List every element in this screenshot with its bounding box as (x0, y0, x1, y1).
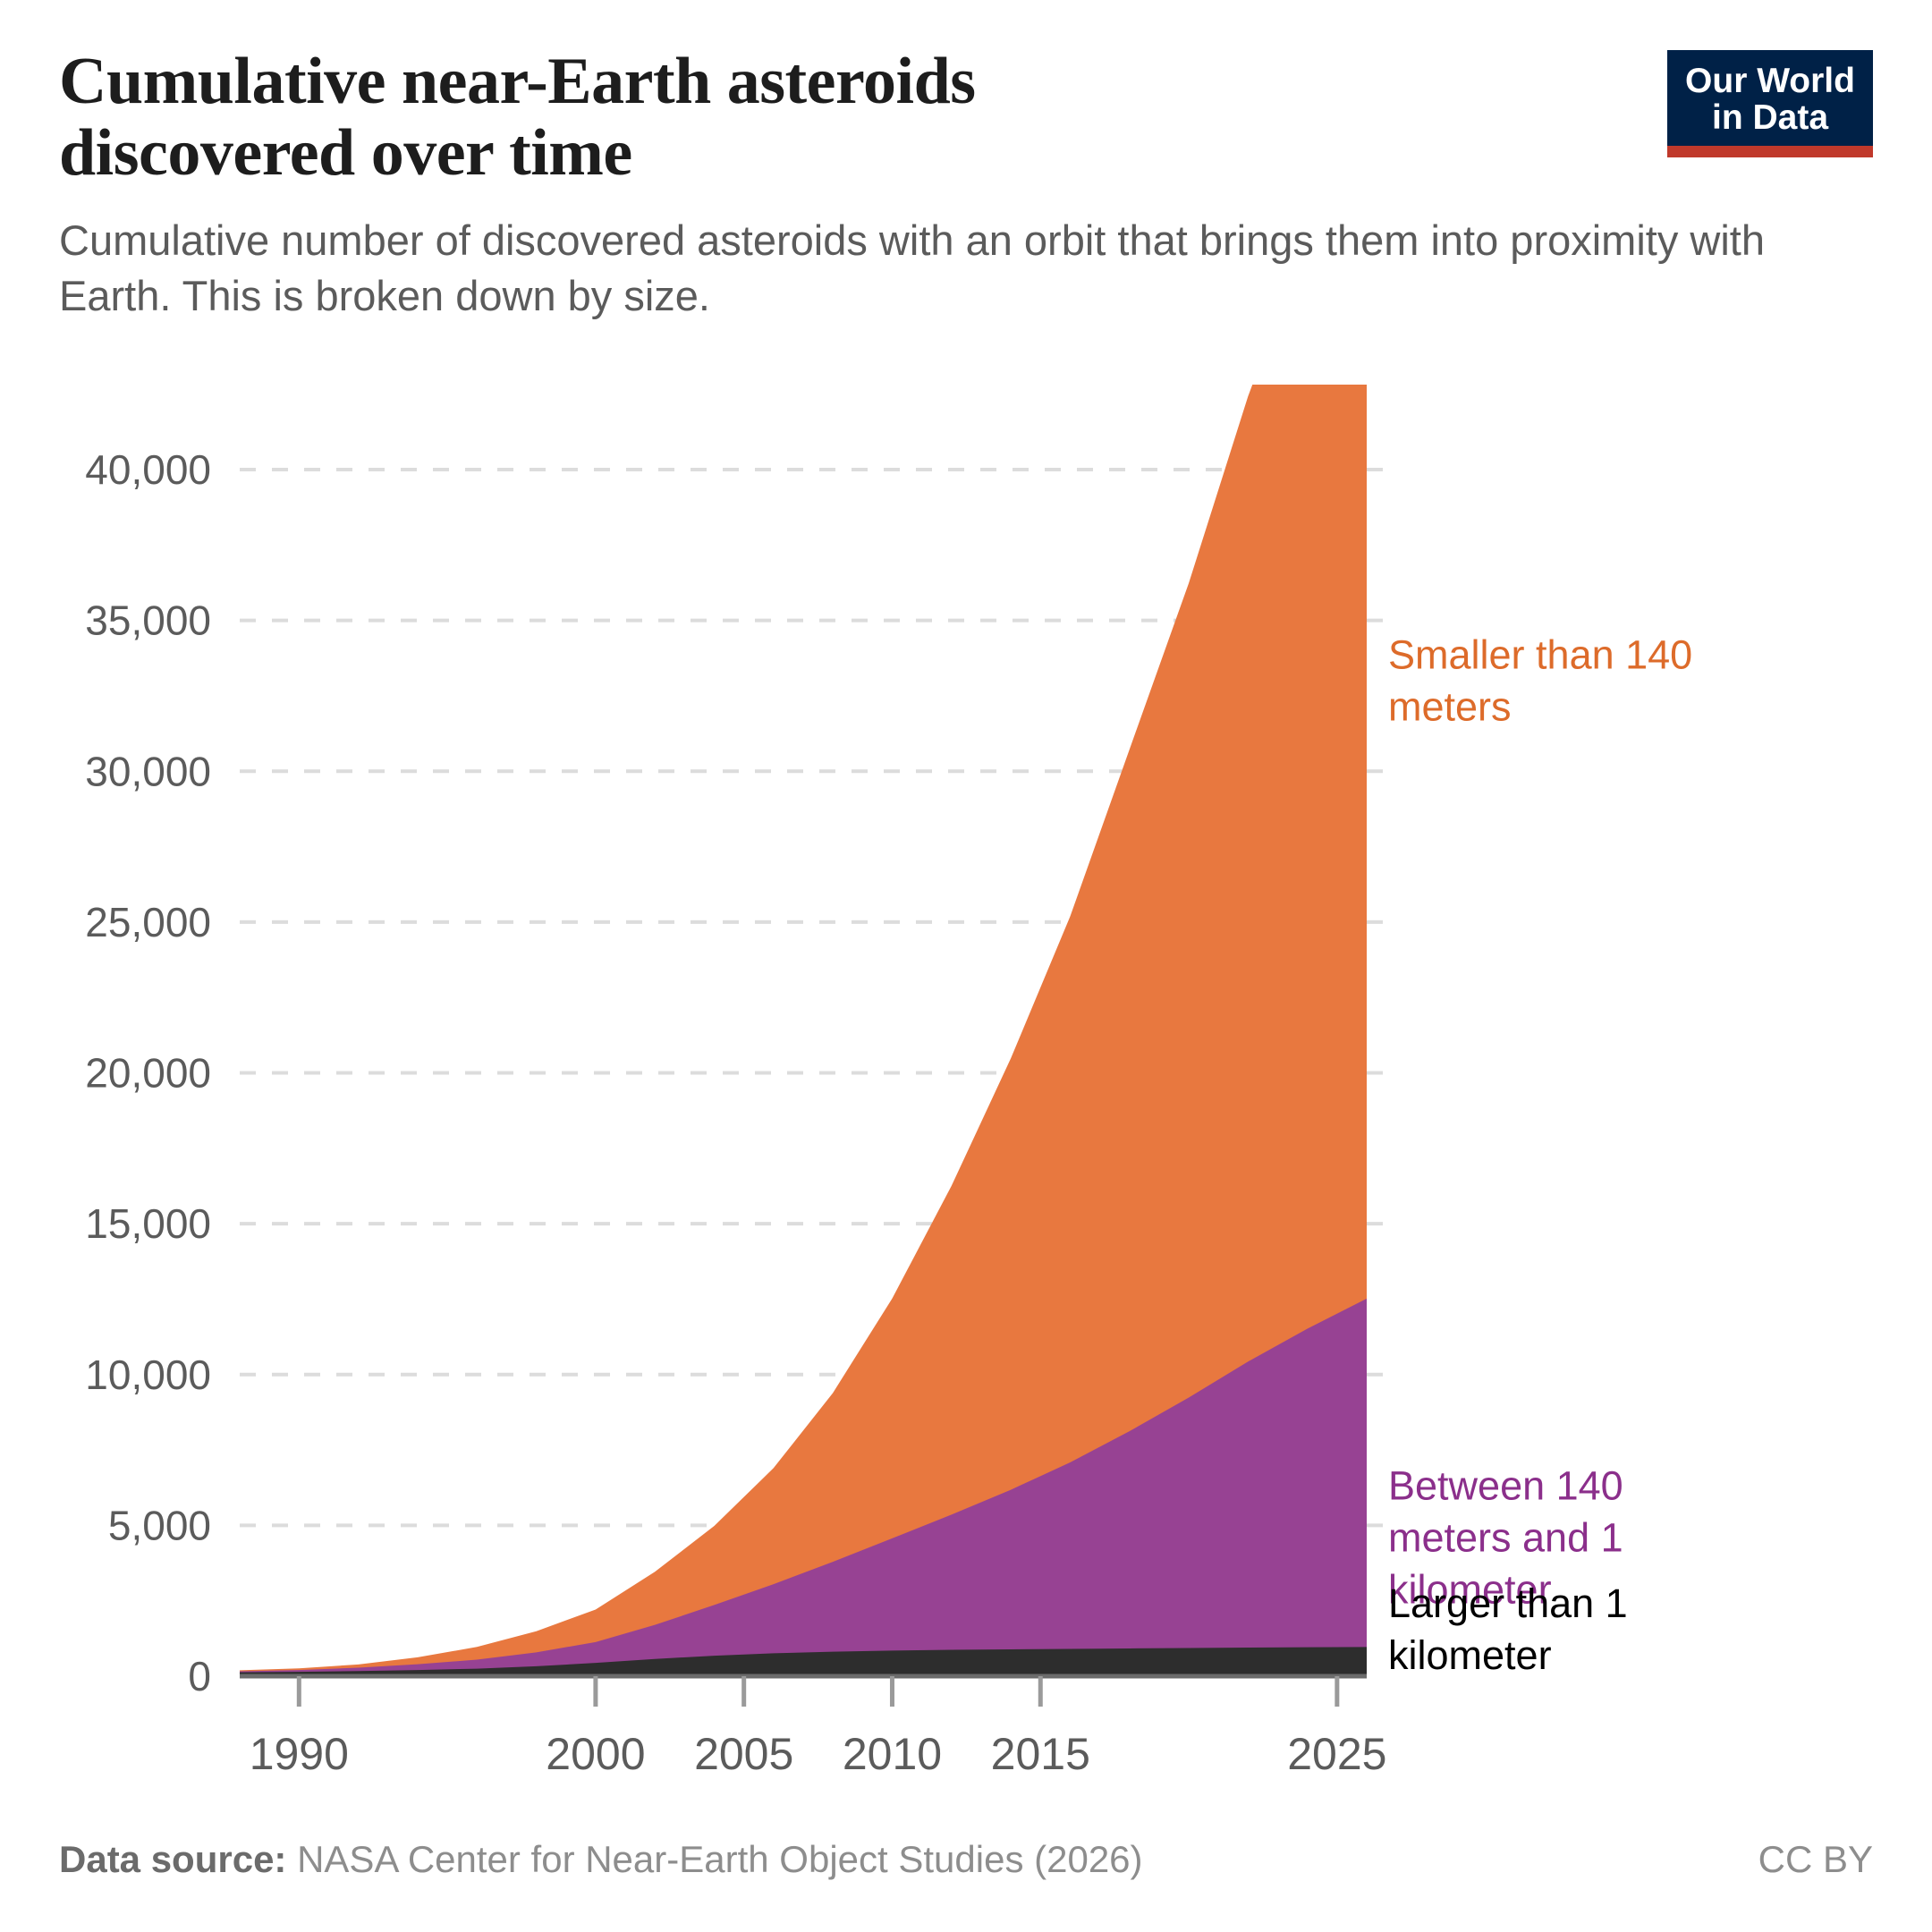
y-tick-label: 30,000 (85, 748, 211, 794)
our-world-in-data-logo[interactable]: Our World in Data (1667, 50, 1873, 157)
y-tick-label: 20,000 (85, 1050, 211, 1097)
series-label[interactable]: meters and 1 (1388, 1515, 1623, 1561)
x-tick-label: 2025 (1287, 1729, 1386, 1779)
license-label[interactable]: CC BY (1758, 1838, 1873, 1881)
chart-footer: Data source: NASA Center for Near-Earth … (59, 1838, 1873, 1881)
y-tick-label: 35,000 (85, 597, 211, 644)
logo-line-2: in Data (1683, 99, 1857, 136)
y-tick-label: 5,000 (108, 1502, 211, 1548)
y-axis-tick-labels: 05,00010,00015,00020,00025,00030,00035,0… (85, 446, 211, 1699)
y-tick-label: 25,000 (85, 899, 211, 945)
series-label[interactable]: kilometer (1388, 1632, 1552, 1678)
data-source-label: Data source: (59, 1838, 286, 1880)
y-tick-label: 15,000 (85, 1200, 211, 1247)
logo-line-1: Our World (1683, 63, 1857, 99)
area-series-group (240, 385, 1367, 1676)
series-inline-labels: Smaller than 140metersBetween 140meters … (1388, 631, 1692, 1678)
series-label[interactable]: Smaller than 140 (1388, 631, 1692, 677)
series-label[interactable]: Between 140 (1388, 1463, 1623, 1509)
page-title: Cumulative near-Earth asteroids discover… (59, 47, 1249, 190)
page-subtitle: Cumulative number of discovered asteroid… (59, 213, 1785, 324)
x-tick-label: 1990 (250, 1729, 349, 1779)
x-tick-label: 2010 (843, 1729, 942, 1779)
series-label[interactable]: Larger than 1 (1388, 1580, 1628, 1626)
x-tick-label: 2000 (546, 1729, 645, 1779)
series-label[interactable]: meters (1388, 683, 1512, 729)
chart-area: 05,00010,00015,00020,00025,00030,00035,0… (0, 385, 1932, 1780)
stacked-area-chart: 05,00010,00015,00020,00025,00030,00035,0… (0, 385, 1932, 1780)
x-axis-tick-labels: 199020002005201020152025 (250, 1729, 1387, 1779)
y-tick-label: 40,000 (85, 446, 211, 493)
x-tick-label: 2015 (991, 1729, 1090, 1779)
x-axis-ticks (299, 1676, 1337, 1707)
y-tick-label: 0 (188, 1653, 211, 1699)
chart-header: Cumulative near-Earth asteroids discover… (59, 47, 1812, 324)
data-source-value: NASA Center for Near-Earth Object Studie… (286, 1838, 1142, 1880)
chart-page: Cumulative near-Earth asteroids discover… (0, 0, 1932, 1932)
data-source: Data source: NASA Center for Near-Earth … (59, 1838, 1143, 1881)
x-tick-label: 2005 (694, 1729, 793, 1779)
y-tick-label: 10,000 (85, 1352, 211, 1398)
